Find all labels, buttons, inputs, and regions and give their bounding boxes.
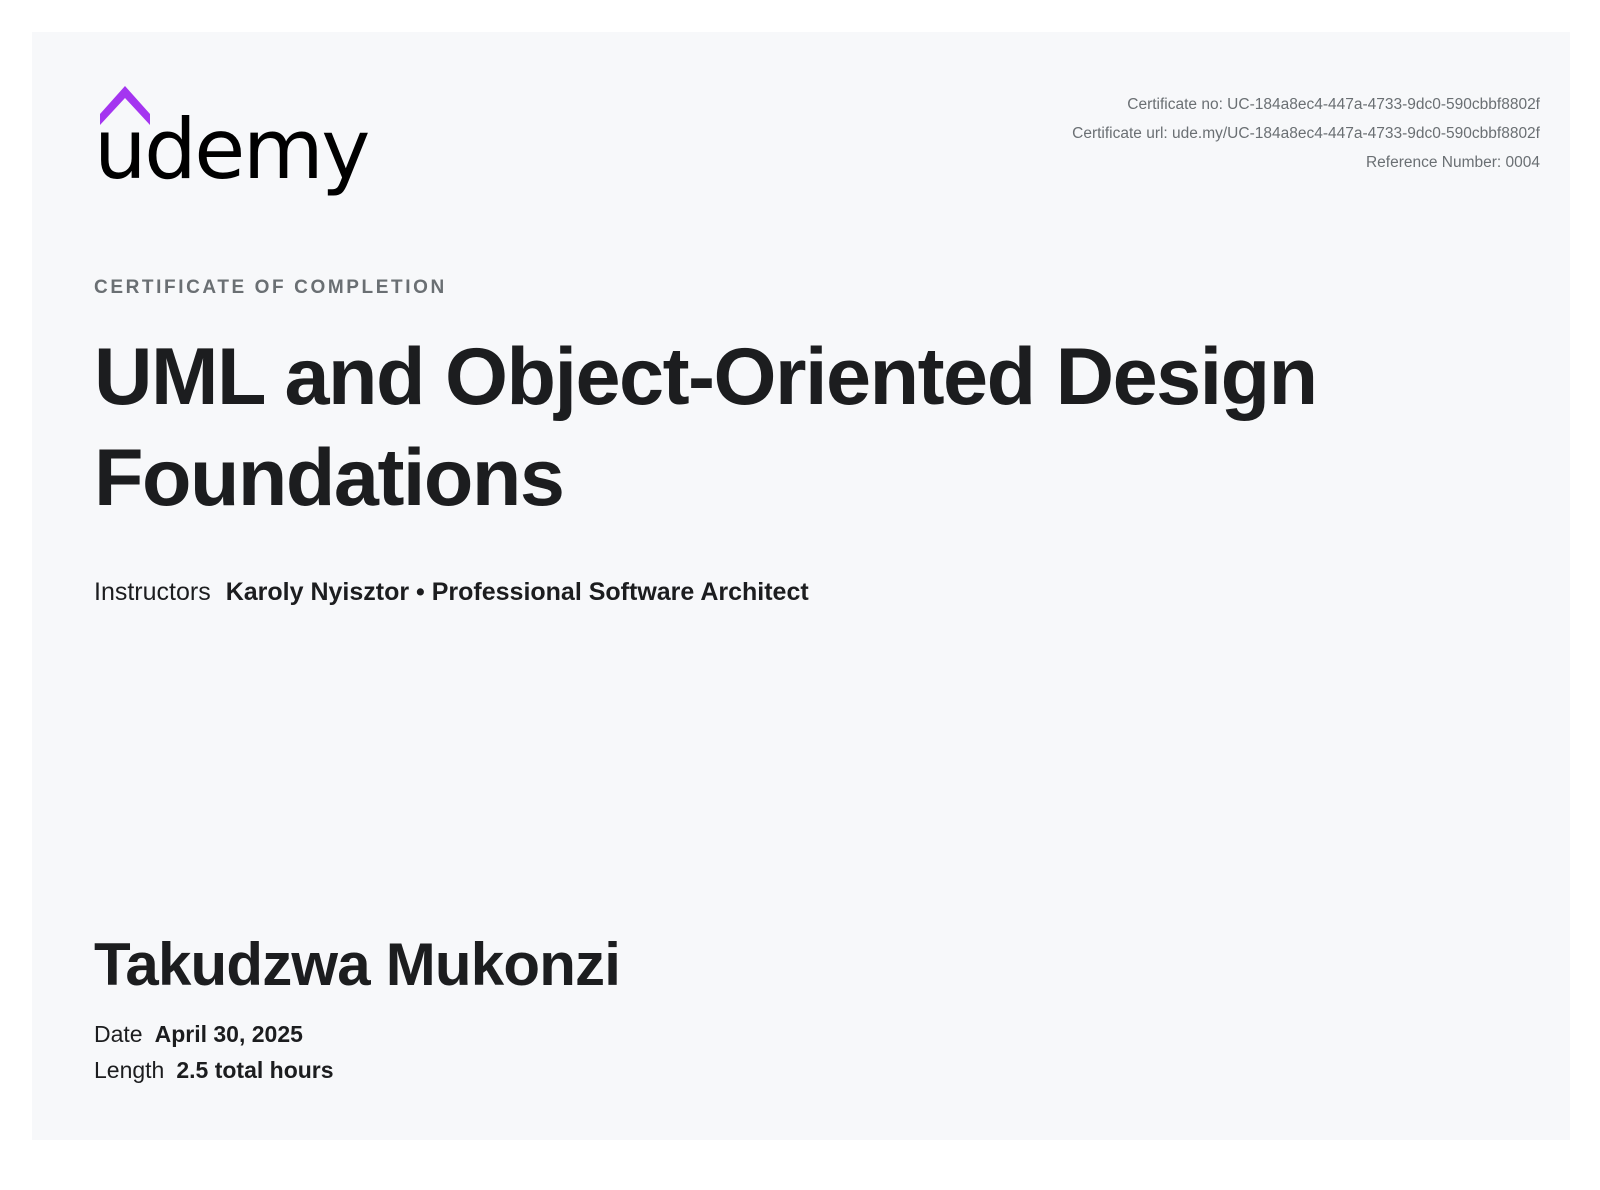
length-value: 2.5 total hours [176, 1057, 333, 1083]
date-label: Date [94, 1021, 143, 1047]
certificate-eyebrow: CERTIFICATE OF COMPLETION [94, 277, 1530, 299]
certificate-footer: Takudzwa Mukonzi DateApril 30, 2025 Leng… [94, 932, 1530, 1088]
udemy-logo: udemy [94, 84, 354, 194]
course-title: UML and Object-Oriented Design Foundatio… [94, 327, 1364, 529]
certificate-metadata: Certificate no: UC-184a8ec4-447a-4733-9d… [1072, 90, 1540, 177]
instructors-label: Instructors [94, 578, 211, 606]
certificate-number: Certificate no: UC-184a8ec4-447a-4733-9d… [1072, 90, 1540, 119]
certificate-header: udemy Certificate no: UC-184a8ec4-447a-4… [94, 84, 1540, 224]
certificate-page: udemy Certificate no: UC-184a8ec4-447a-4… [32, 32, 1570, 1140]
instructors-value: Karoly Nyisztor • Professional Software … [226, 578, 809, 606]
length-row: Length2.5 total hours [94, 1052, 1530, 1088]
recipient-name: Takudzwa Mukonzi [94, 932, 1530, 998]
date-value: April 30, 2025 [155, 1021, 303, 1047]
date-row: DateApril 30, 2025 [94, 1016, 1530, 1052]
udemy-wordmark: udemy [94, 108, 368, 191]
length-label: Length [94, 1057, 164, 1083]
certificate-body: CERTIFICATE OF COMPLETION UML and Object… [94, 277, 1530, 609]
instructors-row: InstructorsKaroly Nyisztor • Professiona… [94, 576, 1530, 609]
reference-number: Reference Number: 0004 [1072, 148, 1540, 177]
certificate-url: Certificate url: ude.my/UC-184a8ec4-447a… [1072, 119, 1540, 148]
